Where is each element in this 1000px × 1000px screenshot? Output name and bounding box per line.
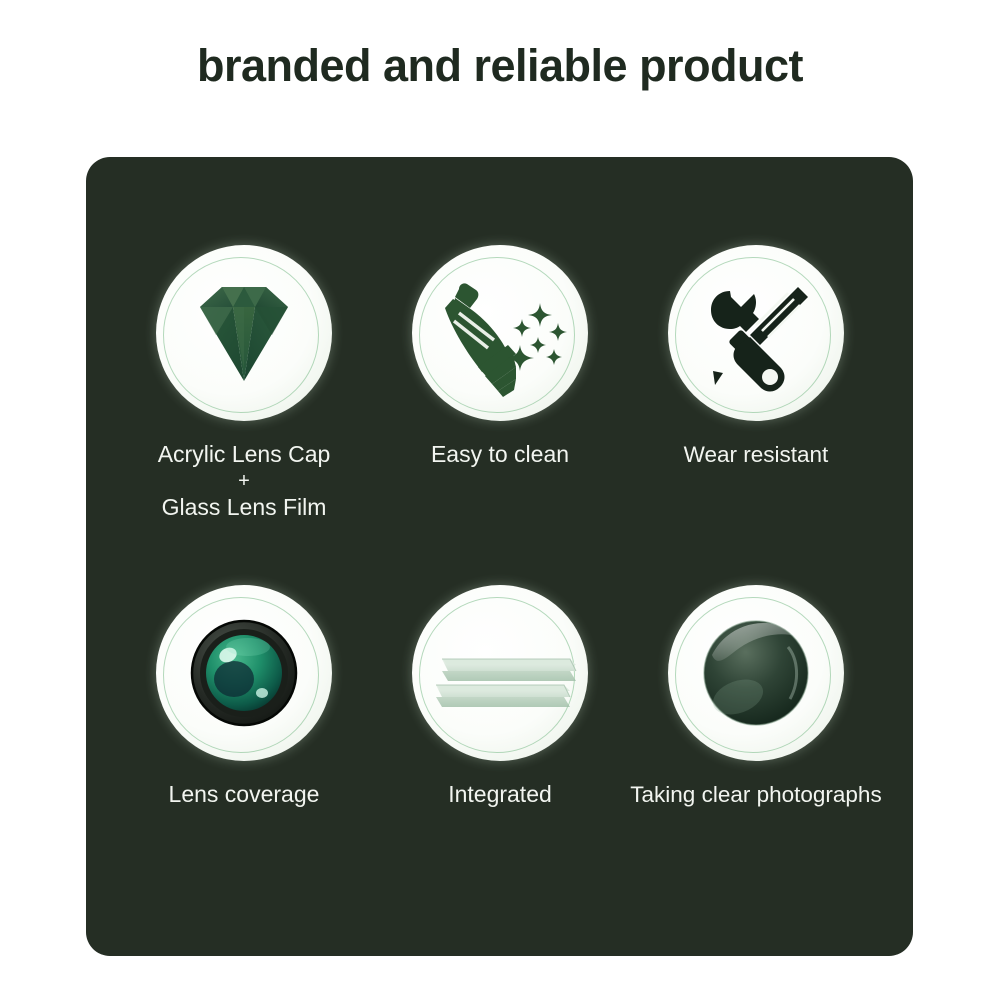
broom-sparkle-icon [412,245,588,421]
feature-label-line-1: Taking clear photographs [628,779,884,810]
icon-circle [668,585,844,761]
icon-circle [412,245,588,421]
feature-item-wear-resistant: Wear resistant [628,245,884,470]
feature-label-line-1: Acrylic Lens Cap [116,439,372,470]
feature-label: Integrated [372,779,628,810]
feature-card: Acrylic Lens Cap + Glass Lens Film [86,157,913,956]
page-title: branded and reliable product [0,40,1000,92]
feature-label: Wear resistant [628,439,884,470]
feature-item-integrated: Integrated [372,585,628,810]
feature-label: Acrylic Lens Cap + Glass Lens Film [116,439,372,523]
feature-label: Lens coverage [116,779,372,810]
icon-circle [668,245,844,421]
feature-label-line-1: Integrated [372,779,628,810]
feature-label-line-1: Lens coverage [116,779,372,810]
feature-label: Taking clear photographs [628,779,884,810]
stacked-glass-sheets-icon [412,585,588,761]
feature-item-lens-coverage: Lens coverage [116,585,372,810]
diamond-gem-icon [156,245,332,421]
icon-circle [156,585,332,761]
feature-label-line-1: Easy to clean [372,439,628,470]
feature-item-easy-to-clean: Easy to clean [372,245,628,470]
feature-label-line-1: Wear resistant [628,439,884,470]
icon-circle [156,245,332,421]
camera-lens-icon [156,585,332,761]
wrench-screwdriver-icon [668,245,844,421]
feature-label-line-3: Glass Lens Film [116,492,372,523]
glass-dome-lens-icon [668,585,844,761]
feature-item-acrylic-lens-cap: Acrylic Lens Cap + Glass Lens Film [116,245,372,523]
feature-label-line-2: + [116,470,372,492]
icon-circle [412,585,588,761]
feature-label: Easy to clean [372,439,628,470]
feature-grid: Acrylic Lens Cap + Glass Lens Film [86,157,913,956]
feature-item-taking-clear-photographs: Taking clear photographs [628,585,884,810]
